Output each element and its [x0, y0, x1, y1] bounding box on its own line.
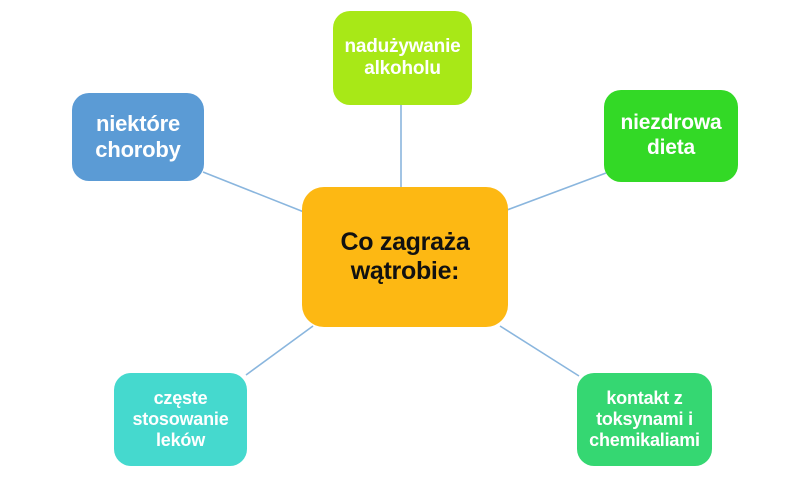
- branch-node-kontakt-z-toksynami[interactable]: kontakt z toksynami i chemikaliami: [577, 373, 712, 466]
- branch-node-naduzywanie-alkoholu[interactable]: nadużywanie alkoholu: [333, 11, 472, 105]
- branch-node-niezdrowa-dieta[interactable]: niezdrowa dieta: [604, 90, 738, 182]
- center-node-title[interactable]: Co zagraża wątrobie:: [302, 187, 508, 327]
- connector-center-to-toksyny: [500, 326, 579, 376]
- connector-center-to-choroby: [203, 172, 304, 212]
- branch-node-niektore-choroby[interactable]: niektóre choroby: [72, 93, 204, 181]
- connector-center-to-dieta: [507, 173, 606, 210]
- mind-map-diagram: nadużywanie alkoholu niektóre choroby ni…: [0, 0, 800, 481]
- branch-node-czeste-stosowanie-lekow[interactable]: częste stosowanie leków: [114, 373, 247, 466]
- connector-center-to-leki: [246, 326, 313, 375]
